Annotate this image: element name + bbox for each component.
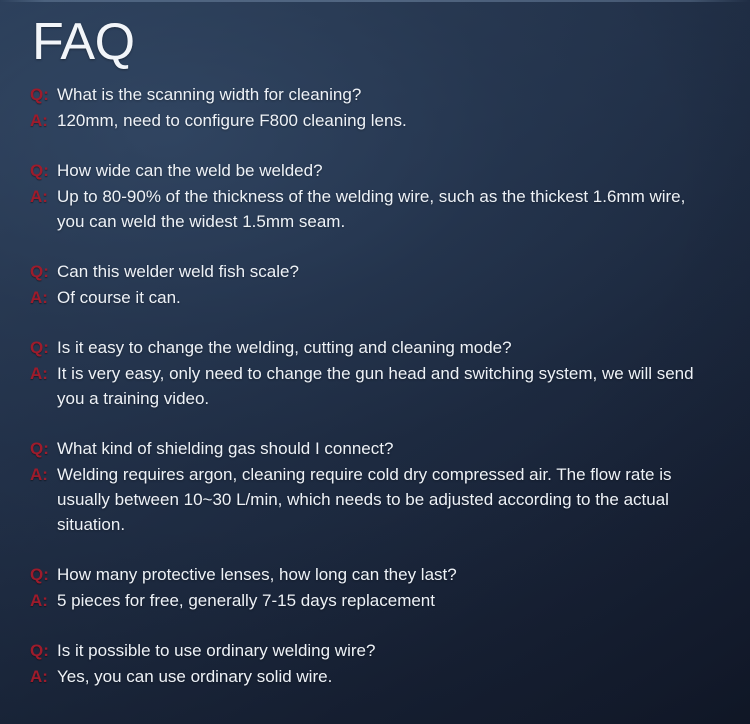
answer-marker: A: — [30, 184, 57, 209]
answer-text: Welding requires argon, cleaning require… — [57, 462, 716, 537]
question-line: Q: Can this welder weld fish scale? — [30, 259, 716, 284]
answer-marker: A: — [30, 588, 57, 613]
faq-item: Q: What kind of shielding gas should I c… — [30, 436, 716, 537]
question-line: Q: How many protective lenses, how long … — [30, 562, 716, 587]
question-marker: Q: — [30, 436, 57, 461]
answer-line: A: 120mm, need to configure F800 cleanin… — [30, 108, 716, 133]
faq-item: Q: Can this welder weld fish scale? A: O… — [30, 259, 716, 310]
question-marker: Q: — [30, 335, 57, 360]
question-line: Q: How wide can the weld be welded? — [30, 158, 716, 183]
answer-marker: A: — [30, 108, 57, 133]
question-marker: Q: — [30, 638, 57, 663]
question-line: Q: What is the scanning width for cleani… — [30, 82, 716, 107]
question-line: Q: Is it easy to change the welding, cut… — [30, 335, 716, 360]
question-marker: Q: — [30, 259, 57, 284]
answer-line: A: Up to 80-90% of the thickness of the … — [30, 184, 716, 234]
answer-marker: A: — [30, 462, 57, 487]
question-text: How wide can the weld be welded? — [57, 158, 716, 183]
faq-item: Q: How wide can the weld be welded? A: U… — [30, 158, 716, 234]
question-marker: Q: — [30, 158, 57, 183]
answer-text: Of course it can. — [57, 285, 716, 310]
faq-content: FAQ Q: What is the scanning width for cl… — [0, 0, 750, 689]
answer-marker: A: — [30, 664, 57, 689]
answer-text: 5 pieces for free, generally 7-15 days r… — [57, 588, 716, 613]
question-text: What kind of shielding gas should I conn… — [57, 436, 716, 461]
answer-line: A: Yes, you can use ordinary solid wire. — [30, 664, 716, 689]
answer-line: A: Welding requires argon, cleaning requ… — [30, 462, 716, 537]
faq-item: Q: Is it possible to use ordinary weldin… — [30, 638, 716, 689]
answer-text: Up to 80-90% of the thickness of the wel… — [57, 184, 716, 234]
answer-text: Yes, you can use ordinary solid wire. — [57, 664, 716, 689]
question-marker: Q: — [30, 82, 57, 107]
answer-marker: A: — [30, 285, 57, 310]
faq-item: Q: What is the scanning width for cleani… — [30, 82, 716, 133]
faq-panel: FAQ Q: What is the scanning width for cl… — [0, 0, 750, 724]
answer-line: A: 5 pieces for free, generally 7-15 day… — [30, 588, 716, 613]
faq-list: Q: What is the scanning width for cleani… — [30, 82, 716, 689]
faq-item: Q: How many protective lenses, how long … — [30, 562, 716, 613]
faq-item: Q: Is it easy to change the welding, cut… — [30, 335, 716, 411]
answer-line: A: Of course it can. — [30, 285, 716, 310]
answer-marker: A: — [30, 361, 57, 386]
question-text: How many protective lenses, how long can… — [57, 562, 716, 587]
answer-text: It is very easy, only need to change the… — [57, 361, 716, 411]
page-title: FAQ — [32, 16, 716, 68]
question-marker: Q: — [30, 562, 57, 587]
answer-line: A: It is very easy, only need to change … — [30, 361, 716, 411]
question-text: Is it easy to change the welding, cuttin… — [57, 335, 716, 360]
answer-text: 120mm, need to configure F800 cleaning l… — [57, 108, 716, 133]
question-text: Is it possible to use ordinary welding w… — [57, 638, 716, 663]
question-text: What is the scanning width for cleaning? — [57, 82, 716, 107]
question-text: Can this welder weld fish scale? — [57, 259, 716, 284]
question-line: Q: What kind of shielding gas should I c… — [30, 436, 716, 461]
question-line: Q: Is it possible to use ordinary weldin… — [30, 638, 716, 663]
